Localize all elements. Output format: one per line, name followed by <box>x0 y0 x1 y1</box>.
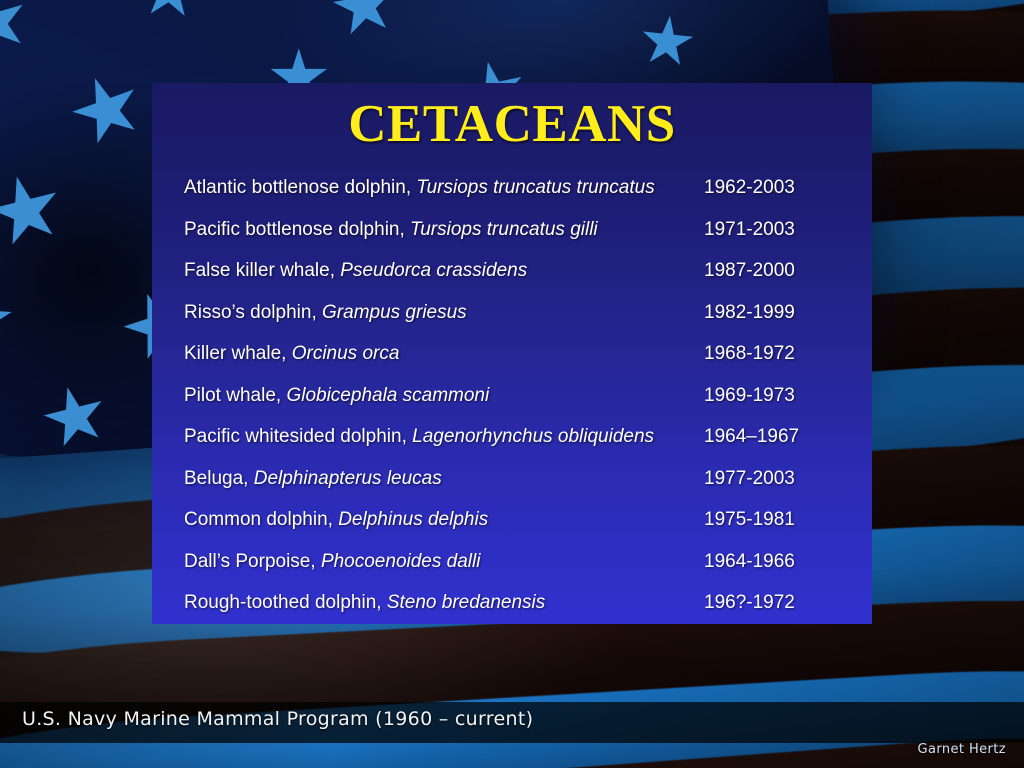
species-scientific-name: Tursiops truncatus truncatus <box>416 177 654 198</box>
species-name: Risso’s dolphin, Grampus griesus <box>184 302 467 324</box>
species-common-name: Rough-toothed dolphin, <box>184 592 387 613</box>
species-row: Beluga, Delphinapterus leucas1977-2003 <box>184 468 872 510</box>
author-credit: Garnet Hertz <box>918 742 1006 757</box>
species-name: Pilot whale, Globicephala scammoni <box>184 385 489 407</box>
species-scientific-name: Lagenorhynchus obliquidens <box>412 426 654 447</box>
species-scientific-name: Delphinapterus leucas <box>254 468 442 489</box>
species-scientific-name: Tursiops truncatus gilli <box>410 219 598 240</box>
species-years: 1975-1981 <box>704 509 795 531</box>
species-name: False killer whale, Pseudorca crassidens <box>184 260 527 282</box>
species-name: Rough-toothed dolphin, Steno bredanensis <box>184 592 545 614</box>
species-years: 1968-1972 <box>704 343 795 365</box>
species-row: Common dolphin, Delphinus delphis1975-19… <box>184 509 872 551</box>
species-name: Pacific bottlenose dolphin, Tursiops tru… <box>184 219 598 241</box>
species-years: 1964–1967 <box>704 426 799 448</box>
species-common-name: Common dolphin, <box>184 509 338 530</box>
species-scientific-name: Pseudorca crassidens <box>340 260 527 281</box>
species-row: Dall’s Porpoise, Phocoenoides dalli1964-… <box>184 551 872 593</box>
species-common-name: Pilot whale, <box>184 385 286 406</box>
page-title: CETACEANS <box>152 83 872 153</box>
species-scientific-name: Phocoenoides dalli <box>321 551 481 572</box>
species-years: 196?-1972 <box>704 592 795 614</box>
species-years: 1964-1966 <box>704 551 795 573</box>
species-years: 1969-1973 <box>704 385 795 407</box>
program-caption: U.S. Navy Marine Mammal Program (1960 – … <box>22 708 533 730</box>
species-common-name: Dall’s Porpoise, <box>184 551 321 572</box>
species-years: 1971-2003 <box>704 219 795 241</box>
presentation-slide: CETACEANS Atlantic bottlenose dolphin, T… <box>0 0 1024 768</box>
species-scientific-name: Delphinus delphis <box>338 509 488 530</box>
species-years: 1987-2000 <box>704 260 795 282</box>
species-name: Pacific whitesided dolphin, Lagenorhynch… <box>184 426 654 448</box>
species-common-name: Pacific whitesided dolphin, <box>184 426 412 447</box>
species-common-name: Pacific bottlenose dolphin, <box>184 219 410 240</box>
species-row: Killer whale, Orcinus orca1968-1972 <box>184 343 872 385</box>
species-years: 1982-1999 <box>704 302 795 324</box>
species-name: Dall’s Porpoise, Phocoenoides dalli <box>184 551 480 573</box>
species-row: Pacific whitesided dolphin, Lagenorhynch… <box>184 426 872 468</box>
species-name: Common dolphin, Delphinus delphis <box>184 509 488 531</box>
species-common-name: Risso’s dolphin, <box>184 302 322 323</box>
species-name: Killer whale, Orcinus orca <box>184 343 399 365</box>
species-row: Pilot whale, Globicephala scammoni1969-1… <box>184 385 872 427</box>
species-common-name: False killer whale, <box>184 260 340 281</box>
species-row: Rough-toothed dolphin, Steno bredanensis… <box>184 592 872 634</box>
species-years: 1977-2003 <box>704 468 795 490</box>
species-row: False killer whale, Pseudorca crassidens… <box>184 260 872 302</box>
species-row: Risso’s dolphin, Grampus griesus1982-199… <box>184 302 872 344</box>
content-panel: CETACEANS Atlantic bottlenose dolphin, T… <box>152 83 872 624</box>
species-common-name: Killer whale, <box>184 343 292 364</box>
species-scientific-name: Steno bredanensis <box>387 592 545 613</box>
species-list: Atlantic bottlenose dolphin, Tursiops tr… <box>184 177 872 634</box>
species-name: Beluga, Delphinapterus leucas <box>184 468 442 490</box>
species-scientific-name: Grampus griesus <box>322 302 467 323</box>
species-scientific-name: Orcinus orca <box>292 343 400 364</box>
species-years: 1962-2003 <box>704 177 795 199</box>
species-row: Pacific bottlenose dolphin, Tursiops tru… <box>184 219 872 261</box>
species-name: Atlantic bottlenose dolphin, Tursiops tr… <box>184 177 655 199</box>
species-common-name: Beluga, <box>184 468 254 489</box>
species-row: Atlantic bottlenose dolphin, Tursiops tr… <box>184 177 872 219</box>
species-common-name: Atlantic bottlenose dolphin, <box>184 177 416 198</box>
species-scientific-name: Globicephala scammoni <box>286 385 489 406</box>
